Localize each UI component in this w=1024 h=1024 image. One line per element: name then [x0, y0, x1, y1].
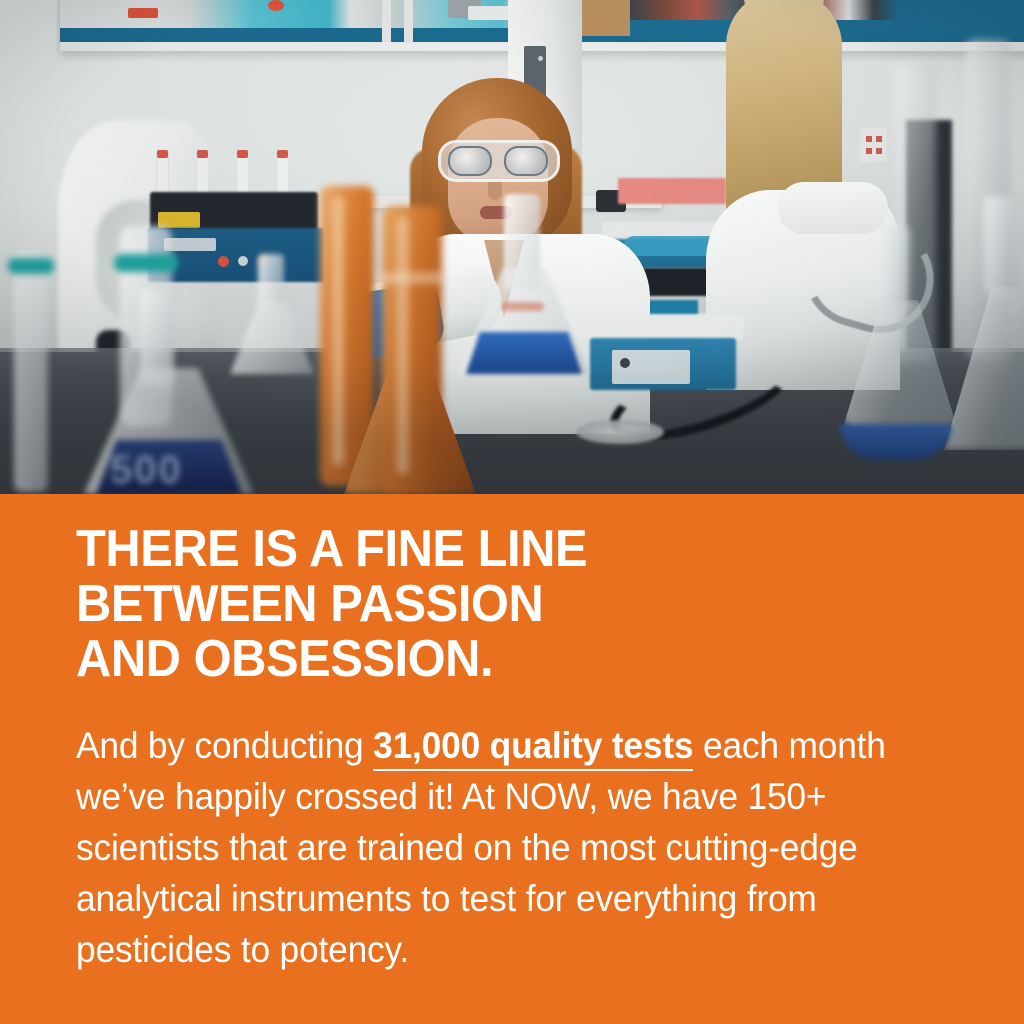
rack-yellow-label: [158, 212, 200, 228]
test-tube: [236, 150, 249, 198]
flask-graduation-mark: [502, 302, 544, 311]
cabinet-red-label: [128, 8, 158, 18]
orange-text-panel: THERE IS A FINE LINE BETWEEN PASSION AND…: [0, 494, 1024, 1024]
amber-cylinder-2: [382, 206, 442, 492]
wall-plate-dot: [538, 56, 543, 61]
pipette-teal-cap: [8, 258, 54, 274]
pipette-left: [14, 252, 48, 492]
test-tube-row: [156, 150, 314, 198]
cabinet-divider-left: [382, 0, 391, 42]
instrument-button: [620, 358, 630, 368]
flask-neck: [876, 226, 910, 312]
goggle-lens-right: [504, 146, 548, 176]
petri-dish: [576, 420, 664, 444]
blue-liquid: [466, 332, 582, 374]
body-paragraph: And by conducting 31,000 quality tests e…: [76, 720, 916, 975]
test-tube: [156, 150, 169, 198]
headline-line-2: BETWEEN PASSION: [76, 577, 922, 632]
quality-tests-emphasis: 31,000 quality tests: [373, 725, 693, 771]
flask-body: [230, 302, 314, 374]
small-flask-in-hand: [230, 254, 314, 374]
amber-cylinder-highlight: [332, 196, 344, 466]
body-text-before: And by conducting: [76, 725, 373, 766]
headline-line-3: AND OBSESSION.: [76, 632, 922, 687]
clear-flask-center: [458, 194, 590, 374]
headline: THERE IS A FINE LINE BETWEEN PASSION AND…: [76, 522, 922, 687]
flask-500ml: 500: [84, 290, 254, 494]
white-instrument-top: [574, 314, 744, 340]
test-tube: [276, 150, 289, 198]
pipette-teal-cap: [114, 254, 178, 272]
laboratory-photo: 500: [0, 0, 1024, 494]
test-tube: [196, 150, 209, 198]
amber-cylinder-highlight: [396, 216, 409, 474]
amber-graduation-rim: [378, 272, 446, 284]
instrument-knob-red: [218, 256, 229, 267]
goggle-lens-left: [448, 146, 492, 176]
social-post-card: 500 THERE IS A FINE LINE BETWEEN PASSION…: [0, 0, 1024, 1024]
flask-volume-label: 500: [110, 448, 230, 492]
flask-neck: [984, 196, 1018, 296]
headline-line-1: THERE IS A FINE LINE: [76, 522, 922, 577]
cabinet-red-dot: [268, 0, 284, 11]
cabinet-divider-right: [404, 0, 413, 42]
